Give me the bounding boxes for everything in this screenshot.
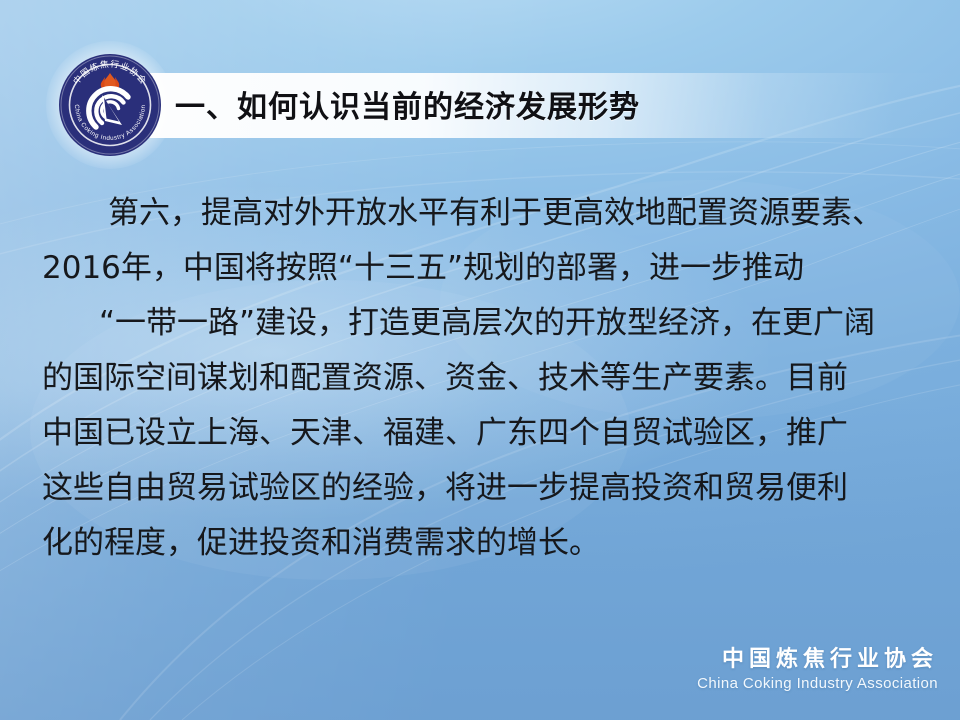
slide-body-text: 第六，提高对外开放水平有利于更高效地配置资源要素、 2016年，中国将按照“十三… bbox=[42, 186, 932, 571]
footer-brand-name-en: China Coking Industry Association bbox=[697, 674, 938, 694]
footer-brand-name-cn: 中国炼焦行业协会 bbox=[697, 646, 938, 674]
body-line: 中国已设立上海、天津、福建、广东四个自贸试验区，推广 bbox=[42, 406, 932, 461]
footer-brand: 中国炼焦行业协会 China Coking Industry Associati… bbox=[697, 646, 938, 694]
body-line: 第六，提高对外开放水平有利于更高效地配置资源要素、 bbox=[42, 186, 932, 241]
logo-emblem-icon: 中国炼焦行业协会 China Coking Industry Associati… bbox=[58, 53, 162, 157]
presentation-slide: 一、如何认识当前的经济发展形势 中国炼焦行业协会 China Coking In… bbox=[0, 0, 960, 720]
body-line: 的国际空间谋划和配置资源、资金、技术等生产要素。目前 bbox=[42, 351, 932, 406]
body-line: 这些自由贸易试验区的经验，将进一步提高投资和贸易便利 bbox=[42, 461, 932, 516]
slide-title: 一、如何认识当前的经济发展形势 bbox=[175, 82, 640, 126]
association-logo: 中国炼焦行业协会 China Coking Industry Associati… bbox=[58, 53, 162, 157]
body-line: 2016年，中国将按照“十三五”规划的部署，进一步推动 bbox=[42, 241, 932, 296]
body-line: “一带一路”建设，打造更高层次的开放型经济，在更广阔 bbox=[42, 296, 932, 351]
body-line: 化的程度，促进投资和消费需求的增长。 bbox=[42, 516, 932, 571]
